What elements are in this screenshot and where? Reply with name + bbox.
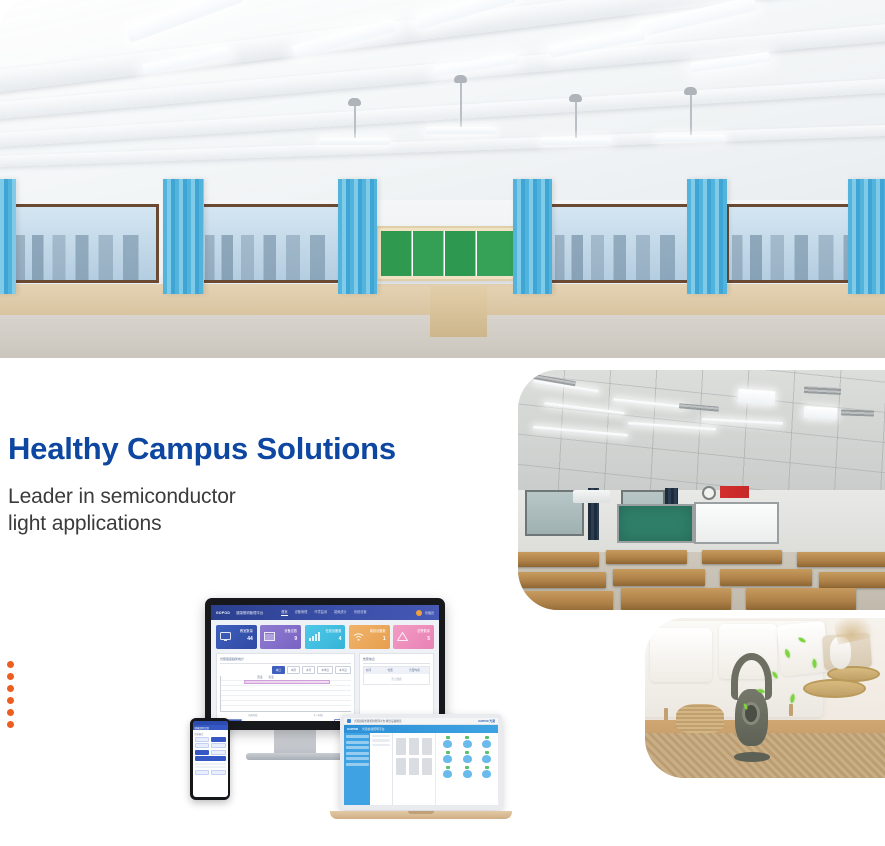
- range-button-year[interactable]: 本年度: [335, 666, 351, 674]
- stat-card-alarms[interactable]: 告警数量 5: [393, 625, 434, 649]
- status-badge: [446, 766, 450, 769]
- classroom-tile[interactable]: [409, 758, 419, 775]
- line-chart: 照度 色温: [220, 676, 351, 712]
- status-badge: [465, 736, 469, 739]
- app-sidebar[interactable]: [344, 733, 370, 805]
- alarm-panel-title: 告警信息: [363, 657, 430, 664]
- stat-card-devices[interactable]: 设备总数 9: [260, 625, 301, 649]
- legend-item-color-temp: 色温: [269, 675, 274, 679]
- woven-basket: [676, 704, 724, 733]
- stat-card-row: 教室数量 44 设备总数 9: [216, 625, 434, 649]
- cushion: [650, 628, 712, 682]
- blue-curtain: [687, 179, 728, 294]
- monitor-screen: GOPOD 健康照明管理平台 首页 设备管理 环境监测 能耗统计 系统设置 管理…: [211, 605, 439, 721]
- stat-card-online[interactable]: 在线设备数 4: [305, 625, 346, 649]
- lamp-icon: [463, 740, 472, 748]
- laptop-screen: 光照顾客智能控制管理平台-教室设备概览 GOPOD 光葩 GOPOD 光葩健康照…: [344, 718, 498, 805]
- classroom-photo-secondary: [518, 370, 885, 610]
- wall-clock: [702, 486, 716, 500]
- chart-data-band: [244, 680, 330, 684]
- status-badge: [485, 736, 489, 739]
- primary-action-button[interactable]: [195, 756, 226, 761]
- alarm-table-header: 时间 位置 告警内容: [364, 667, 429, 674]
- led-panel-light: [125, 0, 243, 43]
- classroom-tile[interactable]: [422, 738, 432, 755]
- scene-chip[interactable]: [195, 737, 210, 742]
- lamp-icon: [482, 770, 491, 778]
- stat-card-offline[interactable]: 离线设备数 1: [349, 625, 390, 649]
- podium: [430, 286, 487, 336]
- multi-device-platform-mockup: GOPOD 健康照明管理平台 首页 设备管理 环境监测 能耗统计 系统设置 管理…: [176, 598, 526, 838]
- nav-menu: 首页 设备管理 环境监测 能耗统计 系统设置: [281, 609, 366, 616]
- app-title: 光葩健康照明平台: [362, 727, 384, 731]
- page-title: Healthy Campus Solutions: [8, 431, 396, 467]
- range-button-week[interactable]: 本周: [287, 666, 300, 674]
- browser-tab-bar: 光照顾客智能控制管理平台-教室设备概览 GOPOD 光葩: [344, 718, 498, 725]
- device-status-item[interactable]: [439, 766, 455, 778]
- classroom-tile[interactable]: [409, 738, 419, 755]
- scene-chip[interactable]: [211, 743, 226, 748]
- subtitle-line-1: Leader in semiconductor: [8, 483, 236, 510]
- classroom-tile[interactable]: [396, 738, 406, 755]
- device-status-item[interactable]: [459, 736, 475, 748]
- smartphone: 健康照明控制 场景模式: [190, 718, 230, 800]
- status-badge: [465, 766, 469, 769]
- range-button-month[interactable]: 本月: [302, 666, 315, 674]
- nav-item-environment[interactable]: 环境监测: [314, 609, 327, 616]
- lamp-icon: [463, 770, 472, 778]
- lamp-icon: [482, 755, 491, 763]
- whiteboard: [694, 502, 778, 544]
- air-purifier-device: [731, 653, 772, 759]
- window: [549, 204, 695, 283]
- alarm-table: 时间 位置 告警内容 暂无数据: [363, 666, 430, 685]
- alarm-panel: 告警信息 时间 位置 告警内容 暂无数据: [359, 653, 434, 721]
- pendant-light: [690, 94, 692, 136]
- app-header: GOPOD 光葩健康照明平台: [344, 725, 498, 733]
- chart-range-buttons: 本日 本周 本月 本季度 本年度: [220, 666, 351, 674]
- device-status-item[interactable]: [439, 736, 455, 748]
- brand-logo: GOPOD: [216, 611, 230, 615]
- user-name: 管理员: [425, 611, 434, 615]
- pendant-light: [575, 101, 577, 139]
- red-flag: [720, 486, 749, 498]
- decorative-dot: [7, 673, 14, 680]
- phone-screen: 健康照明控制 场景模式: [193, 721, 228, 797]
- decorative-dot: [7, 661, 14, 668]
- alarm-table-empty: 暂无数据: [364, 674, 429, 684]
- blue-curtain: [513, 179, 552, 294]
- tree-panel[interactable]: [370, 733, 393, 805]
- window: [9, 204, 159, 283]
- scene-chip-grid: [195, 737, 226, 755]
- side-table: [827, 666, 880, 682]
- page-subtitle: Leader in semiconductor light applicatio…: [8, 483, 236, 537]
- warning-icon: [397, 628, 408, 646]
- avatar[interactable]: [416, 610, 422, 616]
- subtitle-line-2: light applications: [8, 510, 236, 537]
- stat-card-classrooms[interactable]: 教室数量 44: [216, 625, 257, 649]
- lamp-icon: [443, 740, 452, 748]
- lamp-icon: [482, 740, 491, 748]
- blue-curtain: [338, 179, 377, 294]
- dashboard-panels: 光照强度趋势统计 本日 本周 本月 本季度 本年度: [216, 653, 434, 721]
- hero-classroom-photo: [0, 0, 885, 358]
- phone-app-title: 健康照明控制: [195, 726, 209, 730]
- chart-panel-title: 光照强度趋势统计: [220, 657, 351, 664]
- legend-item-illuminance: 照度: [257, 675, 262, 679]
- orange-dot-column: [7, 661, 14, 733]
- drop-ceiling: [518, 370, 885, 495]
- dashboard-navbar: GOPOD 健康照明管理平台 首页 设备管理 环境监测 能耗统计 系统设置 管理…: [211, 605, 439, 620]
- green-chalkboard: [376, 226, 519, 281]
- monitor-icon: [220, 628, 231, 646]
- scene-chip[interactable]: [211, 737, 226, 742]
- pendant-light: [460, 82, 462, 128]
- status-badge: [485, 766, 489, 769]
- classroom-tile[interactable]: [396, 758, 406, 775]
- laptop-notch: [408, 811, 434, 814]
- blue-curtain: [163, 179, 204, 294]
- divider: [195, 766, 226, 768]
- phone-scene-section: 场景模式: [193, 730, 228, 777]
- lamp-icon: [443, 770, 452, 778]
- browser-tab-title[interactable]: 光照顾客智能控制管理平台-教室设备概览: [354, 719, 402, 723]
- desktop-monitor: GOPOD 健康照明管理平台 首页 设备管理 环境监测 能耗统计 系统设置 管理…: [205, 598, 445, 730]
- scene-chip[interactable]: [195, 743, 210, 748]
- x-tick-1: 下一时段: [313, 713, 323, 717]
- nav-item-settings[interactable]: 系统设置: [354, 609, 367, 616]
- device-status-item[interactable]: [479, 736, 495, 748]
- air-conditioner: [573, 490, 610, 503]
- classroom-tile[interactable]: [422, 758, 432, 775]
- status-badge: [446, 751, 450, 754]
- blue-curtain: [848, 179, 885, 294]
- column-location: 位置: [386, 667, 408, 674]
- window: [199, 204, 345, 283]
- scene-chip[interactable]: [195, 770, 210, 775]
- nav-item-energy[interactable]: 能耗统计: [334, 609, 347, 616]
- marketing-page: Healthy Campus Solutions Leader in semic…: [0, 0, 885, 846]
- chart-legend: 照度 色温: [257, 675, 273, 679]
- column-time: 时间: [364, 667, 386, 674]
- nav-item-devices[interactable]: 设备管理: [295, 609, 308, 616]
- range-button-quarter[interactable]: 本季度: [317, 666, 333, 674]
- app-logo: GOPOD: [347, 727, 358, 731]
- device-status-item[interactable]: [459, 751, 475, 763]
- status-badge: [465, 751, 469, 754]
- browser-brand: GOPOD 光葩: [478, 719, 495, 723]
- chart-panel: 光照强度趋势统计 本日 本周 本月 本季度 本年度: [216, 653, 355, 721]
- lamp-icon: [443, 755, 452, 763]
- bar-chart-icon: [309, 628, 320, 646]
- device-status-item[interactable]: [459, 766, 475, 778]
- blue-curtain: [0, 179, 16, 294]
- green-chalkboard: [617, 504, 694, 542]
- ceiling: [0, 0, 885, 229]
- device-status-item[interactable]: [439, 751, 455, 763]
- scene-chip[interactable]: [211, 750, 226, 755]
- divider: [195, 763, 226, 765]
- decorative-dot: [7, 685, 14, 692]
- column-content: 告警内容: [407, 667, 429, 674]
- nav-item-home[interactable]: 首页: [281, 609, 287, 616]
- monitor-stand: [274, 728, 316, 756]
- range-button-day[interactable]: 本日: [272, 666, 285, 674]
- list-icon: [264, 628, 275, 646]
- pendant-light: [354, 105, 356, 139]
- dashboard-body: 教室数量 44 设备总数 9: [211, 620, 439, 721]
- classroom-tile-grid: [393, 733, 436, 805]
- device-status-item[interactable]: [479, 766, 495, 778]
- wifi-icon: [353, 628, 364, 646]
- app-body: [344, 733, 498, 805]
- laptop: 光照顾客智能控制管理平台-教室设备概览 GOPOD 光葩 GOPOD 光葩健康照…: [330, 714, 512, 826]
- decorative-dot: [7, 709, 14, 716]
- favicon-icon: [347, 719, 351, 723]
- platform-title: 健康照明管理平台: [236, 610, 263, 615]
- lamp-icon: [463, 755, 472, 763]
- status-badge: [485, 751, 489, 754]
- scene-chip[interactable]: [211, 770, 226, 775]
- decorative-dot: [7, 697, 14, 704]
- scene-section-label: 场景模式: [195, 732, 226, 736]
- x-tick-0: 当前时段: [248, 713, 258, 717]
- air-purifier-photo: [645, 618, 885, 778]
- scene-chip[interactable]: [195, 750, 210, 755]
- user-area[interactable]: 管理员: [416, 610, 434, 616]
- decorative-dot: [7, 721, 14, 728]
- device-status-panel: [436, 733, 498, 805]
- device-status-item[interactable]: [479, 751, 495, 763]
- status-badge: [446, 736, 450, 739]
